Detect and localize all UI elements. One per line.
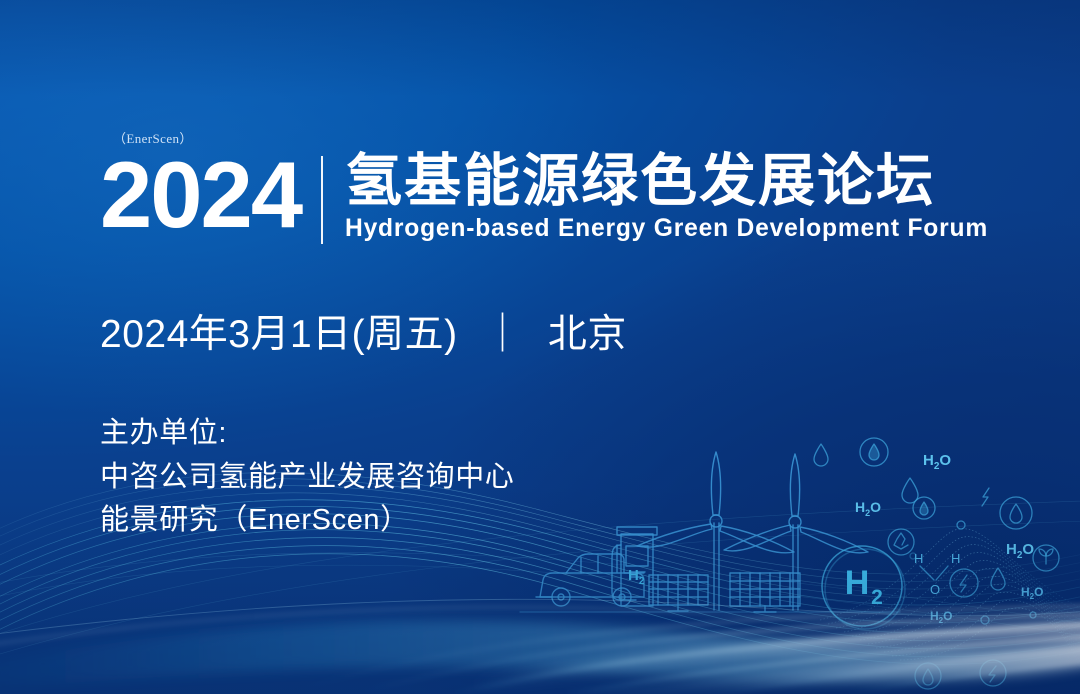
organizer-line-1: 中咨公司氢能产业发展咨询中心 — [100, 456, 514, 500]
event-date: 2024年3月1日(周五) — [100, 313, 458, 356]
title-english: Hydrogen-based Energy Green Development … — [345, 214, 988, 243]
title-divider — [321, 156, 323, 244]
banner-content: （EnerScen） 2024 氢基能源绿色发展论坛 Hydrogen-base… — [0, 0, 1080, 694]
organizer-block: 主办单位: 中咨公司氢能产业发展咨询中心 能景研究（EnerScen） — [100, 412, 514, 543]
meta-separator: ｜ — [469, 303, 537, 359]
year-label: 2024 — [100, 152, 301, 238]
organizer-label: 主办单位: — [100, 412, 514, 456]
event-location: 北京 — [548, 313, 627, 356]
organizer-line-2: 能景研究（EnerScen） — [100, 499, 514, 543]
title-group: 氢基能源绿色发展论坛 Hydrogen-based Energy Green D… — [345, 152, 998, 243]
forum-banner: H 2 H2 — [0, 0, 1080, 694]
title-chinese: 氢基能源绿色发展论坛 — [345, 152, 998, 210]
event-meta: 2024年3月1日(周五) ｜ 北京 — [100, 303, 627, 359]
title-row: 2024 氢基能源绿色发展论坛 Hydrogen-based Energy Gr… — [100, 152, 998, 244]
